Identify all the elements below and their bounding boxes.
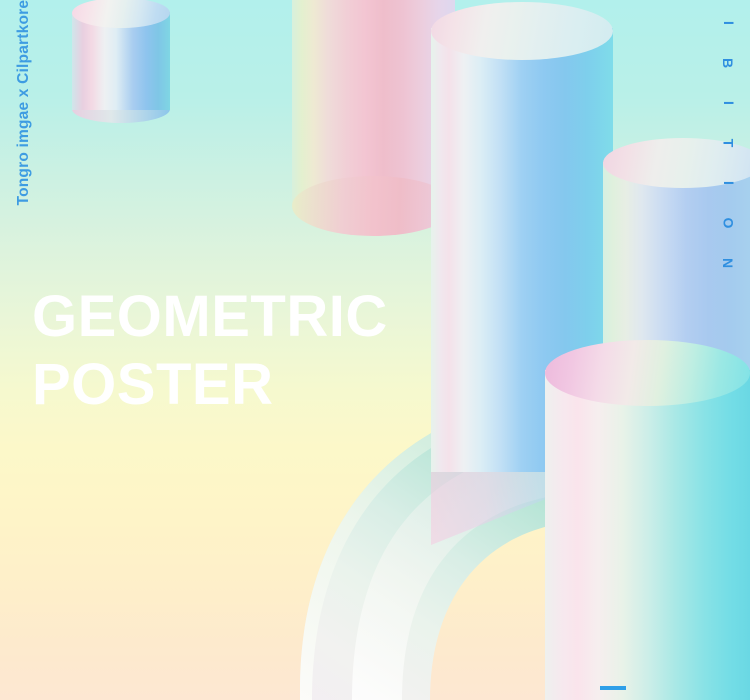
cylinder-top-cap <box>431 2 613 60</box>
exhibition-letter: B <box>722 58 736 68</box>
exhibition-letter: I <box>722 21 736 25</box>
exhibition-label: I B I T I O N <box>723 16 734 270</box>
accent-rule <box>600 686 626 690</box>
exhibition-letter: I <box>722 101 736 105</box>
cylinder-body <box>545 370 750 700</box>
exhibition-letter: I <box>722 181 736 185</box>
geometric-poster: GEOMETRIC POSTER Tongro imgae x Cilpartk… <box>0 0 750 700</box>
exhibition-letter: T <box>722 139 736 148</box>
cylinder-top-cap <box>545 340 750 406</box>
cylinder-bottom-right <box>545 340 750 700</box>
cylinder-small-top-left <box>72 0 170 122</box>
page-title: GEOMETRIC POSTER <box>32 283 388 419</box>
exhibition-letter: O <box>722 218 736 229</box>
credit-label: Tongro imgae x Cilpartkorea <box>15 0 33 211</box>
exhibition-letter: N <box>722 258 736 268</box>
